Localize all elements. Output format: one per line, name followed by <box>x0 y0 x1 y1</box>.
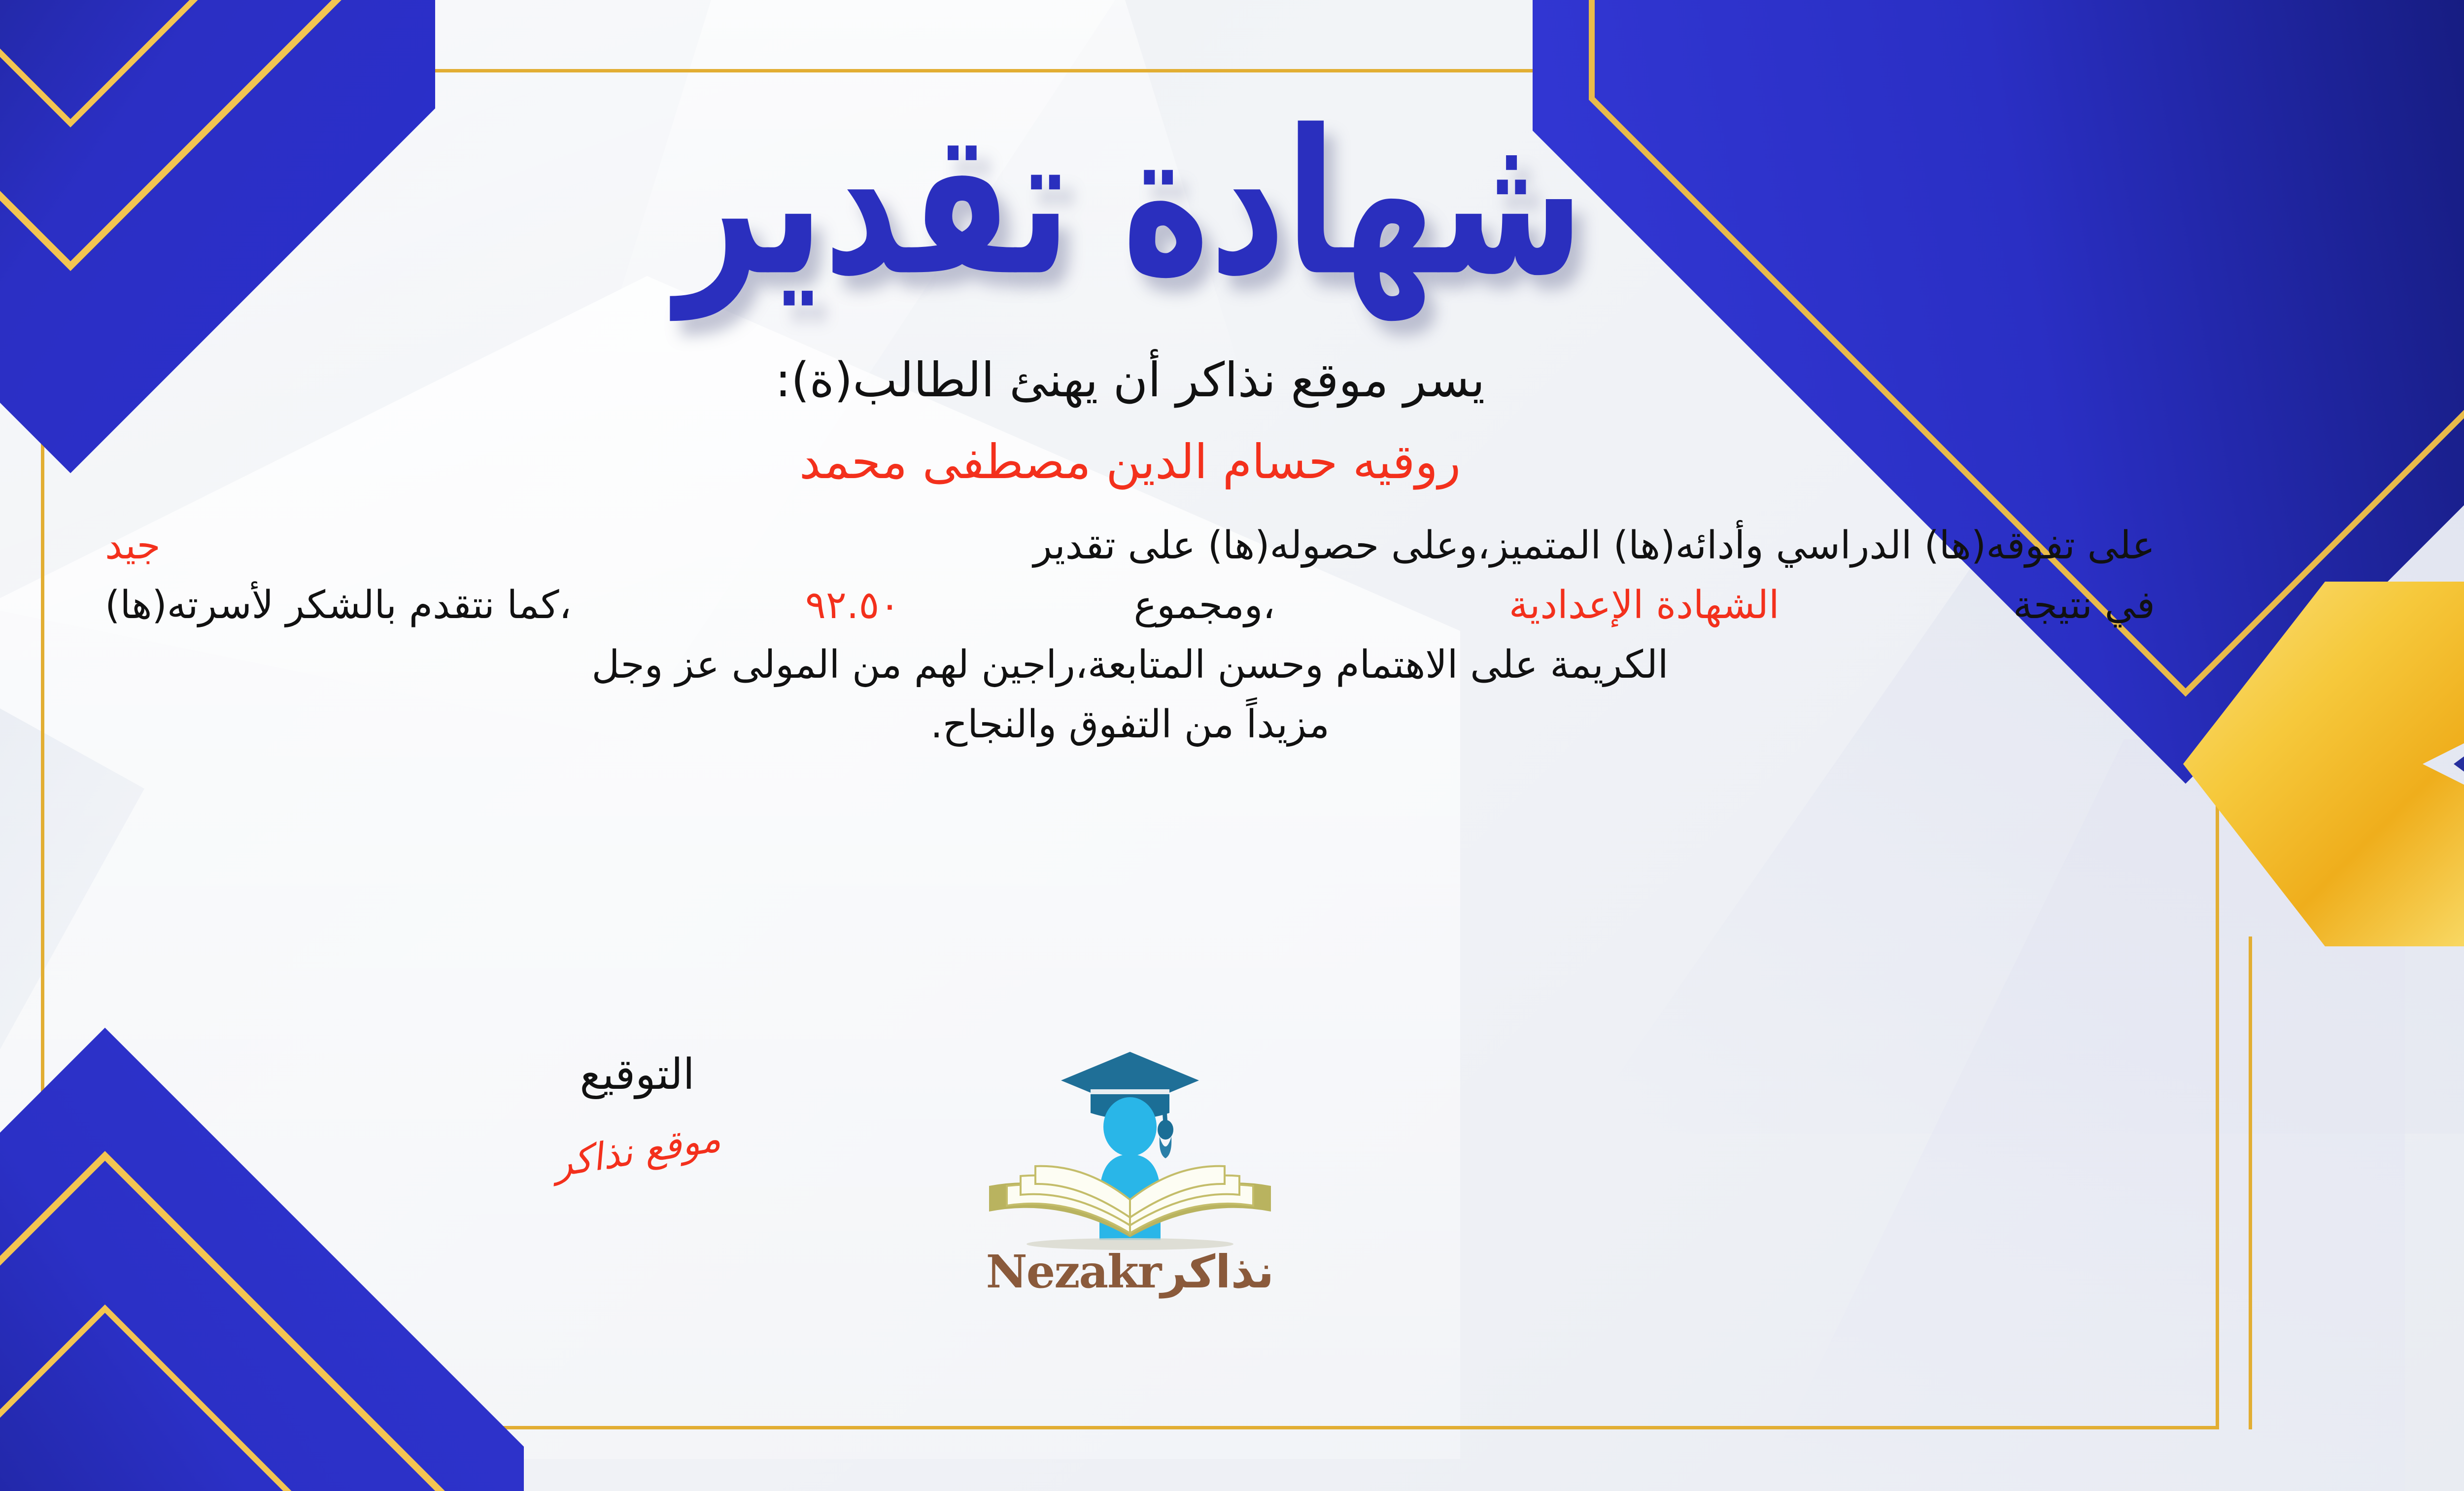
page-title: شهادة تقدير <box>676 99 1584 308</box>
exam-name: الشهادة الإعدادية <box>1509 576 1780 635</box>
body-line-2-prefix: في نتيجة <box>2013 576 2155 635</box>
logo-wordmark: نذاكرNezakr <box>943 1245 1317 1298</box>
gold-chevron-inner-outline <box>2183 582 2464 946</box>
body-line-4-text: مزيداً من التفوق والنجاح. <box>930 695 1330 755</box>
body-line-1: على تفوقه(ها) الدراسي وأدائه(ها) المتميز… <box>100 516 2160 576</box>
total-score: ٩٢.٥٠ <box>805 576 900 635</box>
body-paragraph: على تفوقه(ها) الدراسي وأدائه(ها) المتميز… <box>100 516 2160 755</box>
signature-label: التوقيع <box>465 1050 810 1099</box>
logo-graphic <box>943 1040 1317 1252</box>
total-label: ،ومجموع <box>1134 576 1275 635</box>
salutation-text: يسر موقع نذاكر أن يهنئ الطالب(ة): <box>775 352 1485 408</box>
logo-name-latin: Nezakr <box>986 1245 1161 1298</box>
certificate-content: شهادة تقدير يسر موقع نذاكر أن يهنئ الطال… <box>41 69 2219 1429</box>
logo-name-arabic: نذاكر <box>1161 1246 1274 1298</box>
gold-accent-line <box>2249 936 2252 1429</box>
student-name: روقيه حسام الدين مصطفى محمد <box>799 434 1461 489</box>
body-line-3: الكريمة على الاهتمام وحسن المتابعة،راجين… <box>100 635 2160 695</box>
body-line-2-suffix: ،كما نتقدم بالشكر لأسرته(ها) <box>105 576 572 635</box>
body-line-4: مزيداً من التفوق والنجاح. <box>100 695 2160 755</box>
body-line-1-text: على تفوقه(ها) الدراسي وأدائه(ها) المتميز… <box>1033 516 2155 576</box>
body-line-2: في نتيجة الشهادة الإعدادية ،ومجموع ٩٢.٥٠… <box>100 576 2160 635</box>
grade-value: جيد <box>105 516 161 576</box>
certificate-footer: التوقيع موقع نذاكر <box>41 1050 2219 1355</box>
signature-block: التوقيع موقع نذاكر <box>465 1050 810 1173</box>
gold-chevron-ornament <box>2183 582 2464 946</box>
certificate-page: شهادة تقدير يسر موقع نذاكر أن يهنئ الطال… <box>0 0 2464 1491</box>
site-logo: نذاكرNezakr <box>943 1040 1317 1298</box>
signature-mark: موقع نذاكر <box>551 1116 724 1185</box>
body-line-3-text: الكريمة على الاهتمام وحسن المتابعة،راجين… <box>591 635 1668 695</box>
